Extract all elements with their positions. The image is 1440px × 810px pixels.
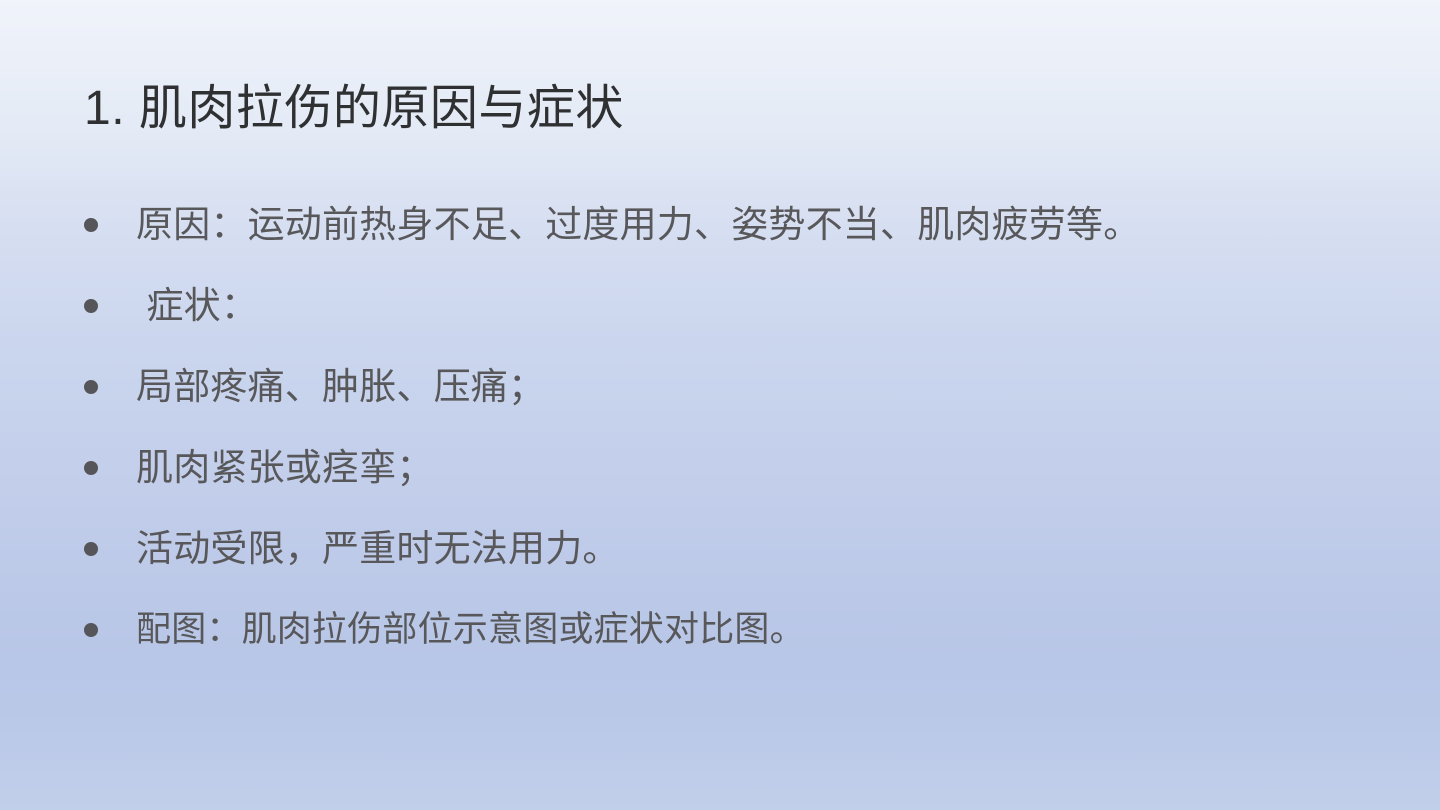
slide-canvas: 1. 肌肉拉伤的原因与症状 原因：运动前热身不足、过度用力、姿势不当、肌肉疲劳等… — [0, 0, 1440, 810]
list-item[interactable]: 配图：肌肉拉伤部位示意图或症状对比图。 — [84, 601, 1384, 682]
list-item[interactable]: 活动受限，严重时无法用力。 — [84, 520, 1384, 601]
list-item-label: 肌肉紧张或痉挛； — [136, 439, 1384, 497]
bullet-dot-icon — [84, 542, 98, 556]
bullet-list: 原因：运动前热身不足、过度用力、姿势不当、肌肉疲劳等。 症状： 局部疼痛、肿胀、… — [84, 196, 1384, 682]
list-item[interactable]: 局部疼痛、肿胀、压痛； — [84, 358, 1384, 439]
list-item[interactable]: 肌肉紧张或痉挛； — [84, 439, 1384, 520]
bullet-dot-icon — [84, 380, 98, 394]
list-item-label: 配图：肌肉拉伤部位示意图或症状对比图。 — [136, 601, 1384, 659]
list-item-label: 原因：运动前热身不足、过度用力、姿势不当、肌肉疲劳等。 — [136, 196, 1384, 254]
list-item-label: 活动受限，严重时无法用力。 — [136, 520, 1384, 578]
bullet-dot-icon — [84, 623, 98, 637]
bullet-dot-icon — [84, 218, 98, 232]
list-item[interactable]: 原因：运动前热身不足、过度用力、姿势不当、肌肉疲劳等。 — [84, 196, 1384, 277]
list-item[interactable]: 症状： — [84, 277, 1384, 358]
bullet-dot-icon — [84, 299, 98, 313]
bullet-dot-icon — [84, 461, 98, 475]
list-item-label: 症状： — [136, 277, 1384, 335]
page-title: 1. 肌肉拉伤的原因与症状 — [84, 78, 1364, 139]
list-item-label: 局部疼痛、肿胀、压痛； — [136, 358, 1384, 416]
